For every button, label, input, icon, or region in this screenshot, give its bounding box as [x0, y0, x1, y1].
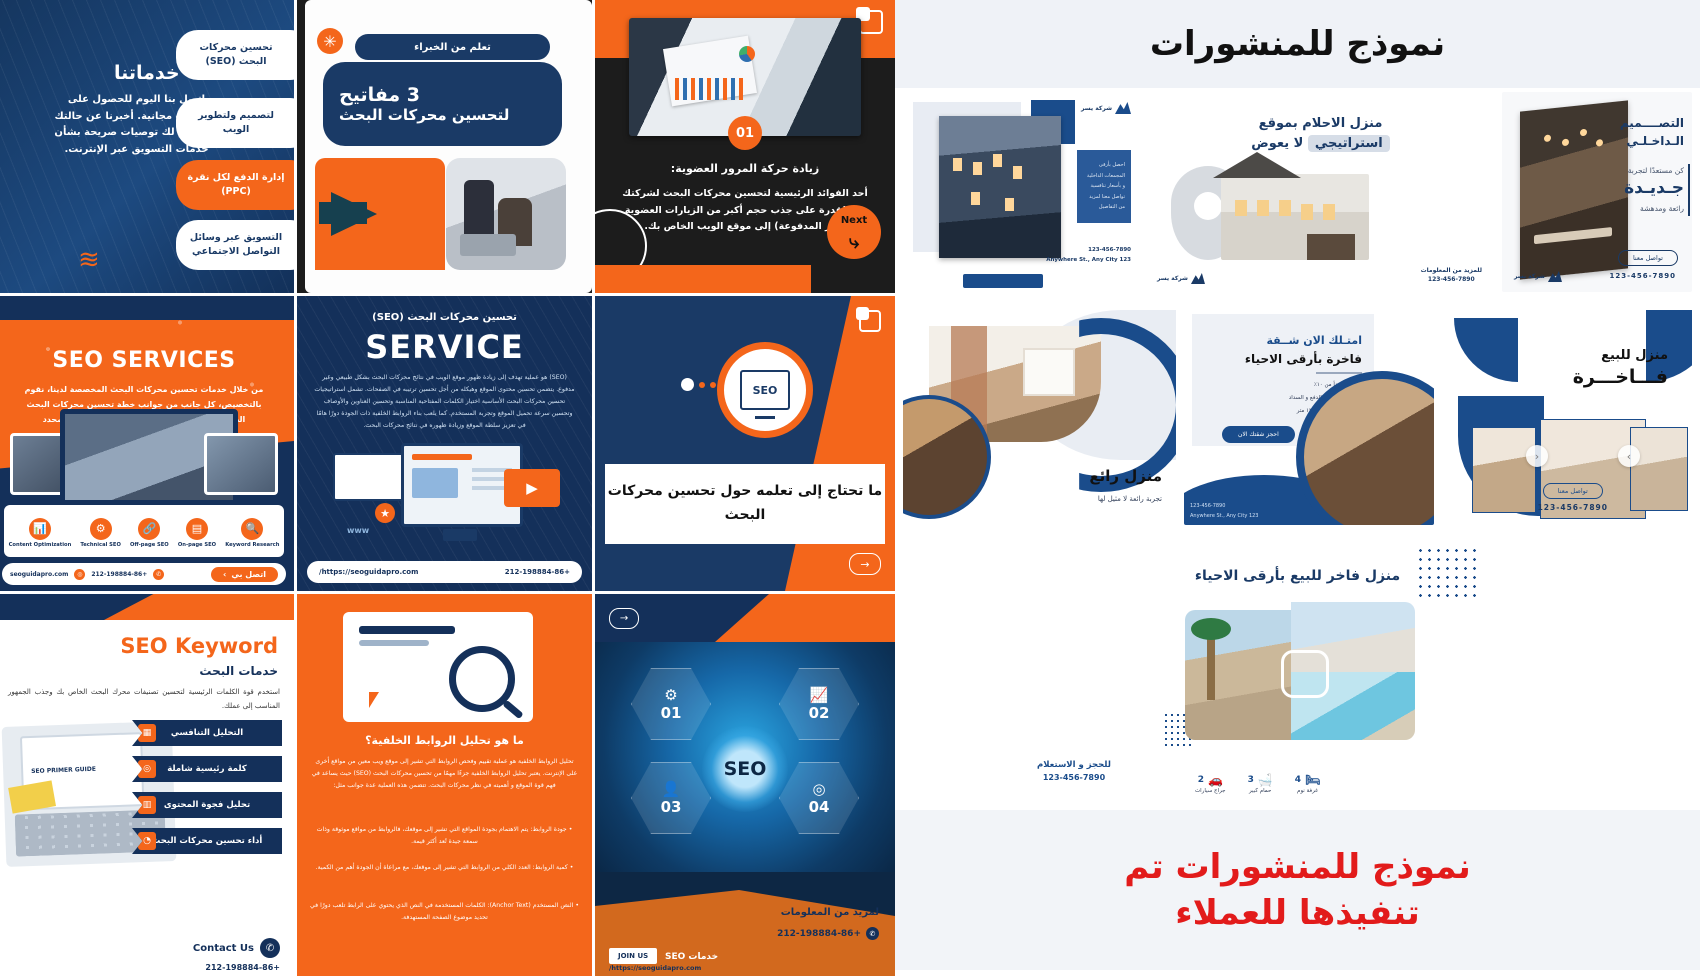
sparkle-icon: ✳	[317, 28, 343, 54]
copy-squares-icon	[859, 10, 883, 34]
cell7-phone: +212-198884-86	[777, 929, 861, 939]
step-badge: 01	[728, 116, 762, 150]
villa-address: 123 Anywhere St., Any City	[1046, 256, 1131, 266]
wonderful-phone: 123-456-7890	[1538, 503, 1608, 512]
icon-label: Keyword Research	[225, 542, 279, 549]
carousel-next-button[interactable]: ›	[1618, 445, 1640, 467]
dream-home-line1: منزل الاحلام بموقع	[1147, 116, 1494, 131]
growth-chart-icon: 📈	[810, 686, 829, 704]
icon-label: On-page SEO	[178, 542, 216, 549]
vertical-rule	[1688, 164, 1690, 216]
post-card-seo-learn[interactable]: SEO ما تحتاج إلى تعلمه حول تحسين محركات …	[595, 296, 895, 591]
keyword-subtitle: خدمات البحث	[199, 664, 278, 678]
apartment-phone: 123-456-7890	[1190, 502, 1258, 512]
service-chip-ppc[interactable]: إدارة الدفع لكل نقرة (PPC)	[176, 160, 294, 210]
dream-home-info: للمزيد من المعلومات 123-456-7890	[1421, 266, 1482, 284]
apartment-address: 123 Anywhere St., Any City	[1190, 512, 1258, 522]
listing-title: منزل فاخر للبيع بأرقى الاحياء	[895, 568, 1700, 584]
backlink-paragraph: تحليل الروابط الخلفية هو عملية تقييم وفح…	[309, 756, 580, 792]
copy-squares-icon	[859, 310, 881, 332]
item-label: كلمة رئيسية شاملة	[167, 764, 246, 774]
arrow-right-icon	[315, 158, 445, 270]
portfolio-screenshot: 01 زيادة حركة المرور العضوية: أحد الفوائ…	[0, 0, 1700, 970]
card-heading: زيادة حركة المرور العضوية:	[611, 162, 879, 175]
hero-title-line2: لتحسين محركات البحث	[339, 106, 509, 124]
car-icon: 🚗	[1208, 773, 1223, 787]
item-label: تحليل فجوة المحتوى	[164, 800, 250, 810]
join-us-button[interactable]: JOIN US	[609, 948, 657, 964]
item-label: التحليل التنافسي	[171, 728, 243, 738]
phone-row: ✆ +212-198884-86	[777, 927, 879, 940]
listing-gallery	[1185, 602, 1415, 740]
dream-home-line2: استراتيجي لا يعوض	[1147, 136, 1494, 151]
brand-logo: شركة يسر	[1157, 273, 1205, 284]
right-preview-panel: نموذج للمنشورات التصــــميم الـداخـلـي ك…	[895, 0, 1700, 970]
tech-hero-image: ⚙01 📈02 👤03 ◎04 SEO	[595, 642, 895, 872]
card-villa[interactable]: احصل بأرقى المجمعات الداخلية و بأسعار تن…	[903, 92, 1139, 292]
page-title: نموذج للمنشورات	[1150, 24, 1445, 64]
icon-technical-seo[interactable]: ⚙ Technical SEO	[80, 518, 120, 549]
item-label: أداء تحسين محركات البحث	[152, 836, 263, 846]
realestate-row-1: التصــــميم الـداخـلـي كن مستعدًا لتجربة…	[895, 92, 1700, 292]
listing-specs: 🛏4 غرفة نوم 🛁3 حمام كبير 🚗2 جراج سيارات	[1195, 773, 1320, 794]
contact-us-button[interactable]: ✆ Contact Us	[193, 938, 280, 958]
contact-meta: ✆ +212-198884-86 ◎ seoguidapro.com	[10, 569, 164, 580]
interior-line-3: رائعة ومدهشة	[1640, 204, 1684, 213]
wonderful-title: منزل رائع	[1089, 467, 1162, 485]
book-now-button[interactable]: احجز شقتك الان	[1222, 426, 1295, 443]
keyword-item-1[interactable]: ▦التحليل التنافسي	[132, 720, 282, 746]
cta-label: Contact Us	[193, 943, 254, 954]
cell9-phone: +212-198884-86	[205, 963, 280, 972]
post-card-three-keys[interactable]: ✳ تعلم من الخبراء 3 مفاتيح لتحسين محركات…	[297, 0, 592, 293]
monitor-illustration: ▶★ www	[317, 421, 572, 541]
footer-phone: +212-198884-86	[505, 568, 570, 576]
brand-label: شركة يسر	[1157, 275, 1188, 282]
info-label: للمزيد من المعلومات	[1421, 266, 1482, 275]
cell7-url[interactable]: https://seoguidapro.com/	[609, 964, 701, 972]
post-card-organic-traffic[interactable]: 01 زيادة حركة المرور العضوية: أحد الفوائ…	[595, 0, 895, 293]
service-chip-seo[interactable]: تحسين محركات البحث (SEO)	[176, 30, 294, 80]
gears-icon: ⚙	[664, 686, 677, 704]
gallery-photo-left	[1472, 427, 1536, 513]
wonderful-contact-block: تواصل معنا 123-456-7890	[1538, 478, 1608, 512]
spec-bathrooms: 🛁3 حمام كبير	[1248, 773, 1273, 794]
team-photo	[446, 158, 566, 270]
backlink-title: ما هو تحليل الروابط الخلفية؟	[307, 734, 582, 747]
icon-offpage-seo[interactable]: 🔗 Off-page SEO	[130, 518, 169, 549]
service-chip-webdev[interactable]: لتصميم ولتطوير الويب	[176, 98, 294, 148]
spec-caption: جراج سيارات	[1195, 788, 1226, 794]
keyword-item-4[interactable]: ◔أداء تحسين محركات البحث	[132, 828, 282, 854]
interior-photo	[1520, 100, 1628, 279]
arrow-right-icon[interactable]: →	[849, 553, 881, 575]
listing-cta-phone: 123-456-7890	[1037, 773, 1111, 782]
keyword-item-2[interactable]: ◎كلمة رئيسية شاملة	[132, 756, 282, 782]
mountain-icon	[1548, 271, 1562, 282]
luxury-line1: منزل للبيع	[1601, 348, 1668, 363]
listing-cta[interactable]: للحجز و الاستعلام 123-456-7890	[1037, 760, 1111, 782]
keyword-title: SEO Keyword	[120, 634, 278, 658]
contact-button[interactable]: تواصل معنا	[1618, 250, 1678, 266]
service-big-title: SERVICE	[297, 328, 592, 366]
wonderful-subtitle: تجربة رائعة لا مثيل لها	[1098, 495, 1162, 503]
villa-button[interactable]	[963, 274, 1043, 288]
apartment-contact: 123-456-7890 123 Anywhere St., Any City	[1190, 502, 1258, 521]
expert-pill: تعلم من الخبراء	[355, 34, 550, 60]
card-wonderful-home[interactable]: منزل رائع تجربة رائعة لا مثيل لها	[903, 300, 1176, 525]
keyword-paragraph: استخدم قوة الكلمات الرئيسية لتحسين تصنيف…	[8, 686, 280, 713]
wonderful-contact-button[interactable]: تواصل معنا	[1543, 483, 1603, 499]
cta-label: اتصل بي	[231, 570, 266, 579]
link-icon: 🔗	[138, 518, 160, 540]
villa-text-panel: احصل بأرقى المجمعات الداخلية و بأسعار تن…	[1077, 150, 1131, 223]
interior-title-line2: الـداخـلـي	[1620, 132, 1684, 150]
luxury-line2: فـــاخـــرة	[1573, 366, 1668, 388]
monitor-icon: SEO	[740, 370, 790, 410]
footer-line-2: تنفيذها للعملاء	[1175, 892, 1420, 935]
panel-footer: نموذج للمنشورات تم تنفيذها للعملاء	[895, 810, 1700, 970]
spec-caption: حمام كبير	[1249, 788, 1271, 794]
listing-photo-left	[1185, 610, 1291, 740]
spec-bedrooms: 🛏4 غرفة نوم	[1295, 773, 1321, 794]
next-button[interactable]: Next	[827, 205, 881, 259]
seo-services-title: SEO SERVICES	[0, 348, 294, 373]
brand-label: شركة يسر	[1081, 105, 1112, 112]
hexagon-option-1: ⚙01	[631, 668, 711, 740]
villa-photo	[939, 116, 1061, 258]
search-illustration	[343, 612, 533, 722]
spec-count: 3	[1248, 775, 1254, 785]
phone-icon: ✆	[260, 938, 280, 958]
gear-icon: ⚙	[90, 518, 112, 540]
bath-icon: 🛁	[1258, 773, 1273, 787]
villa-phone: 123-456-7890	[1046, 246, 1131, 256]
spec-caption: غرفة نوم	[1297, 788, 1318, 794]
backlink-bullet-1: • جودة الروابط: يتم الاهتمام بجودة الموا…	[309, 824, 580, 848]
post-card-seo-keyword[interactable]: SEO Keyword خدمات البحث استخدم قوة الكلم…	[0, 594, 294, 976]
phone-icon: ✆	[153, 569, 164, 580]
seo-core-label: SEO	[702, 726, 788, 812]
chart-icon: 📊	[29, 518, 51, 540]
dream-home-tail: لا يعوض	[1251, 136, 1303, 151]
phone-icon: ✆	[866, 927, 879, 940]
spec-garage: 🚗2 جراج سيارات	[1195, 773, 1226, 794]
hero-title-box: 3 مفاتيح لتحسين محركات البحث	[323, 62, 562, 146]
interior-line-2: جـديـدة	[1624, 178, 1684, 198]
hexagon-option-3: 👤03	[631, 762, 711, 834]
service-icon-row: 🔍 Keyword Research ▤ On-page SEO 🔗 Off-p…	[4, 505, 284, 557]
card-dream-home[interactable]: منزل الاحلام بموقع استراتيجي لا يعوض شرك…	[1147, 92, 1494, 292]
apartment-title-2: فاخرة بأرقى الاحياء	[1245, 352, 1362, 366]
info-phone: 123-456-7890	[1421, 275, 1482, 284]
panel-header: نموذج للمنشورات	[895, 0, 1700, 88]
mountain-icon	[1191, 273, 1205, 284]
bottom-orange-bar	[595, 265, 811, 293]
brand-logo: شركة يسر	[1081, 102, 1131, 114]
arrow-icon: ›	[223, 570, 226, 579]
backlink-bullet-2: • كمية الروابط: العدد الكلي من الروابط ا…	[309, 862, 580, 874]
title-plate: ما تحتاج إلى تعلمه حول تحسين محركات البح…	[605, 464, 885, 544]
hexagon-option-4: ◎04	[779, 762, 859, 834]
interior-title-line1: التصــــميم	[1620, 114, 1684, 132]
target-icon: ◎	[812, 780, 825, 798]
seo-learn-title: ما تحتاج إلى تعلمه حول تحسين محركات البح…	[605, 480, 885, 528]
card-villa-listing[interactable]: منزل فاخر للبيع بأرقى الاحياء 🛏4 غرفة نو…	[895, 532, 1700, 800]
hero-title-line1: 3 مفاتيح	[339, 84, 420, 106]
listing-cta-label: للحجز و الاستعلام	[1037, 760, 1111, 770]
footer-line-1: نموذج للمنشورات تم	[1124, 846, 1471, 889]
post-card-seo-hexagons[interactable]: → ⚙01 📈02 👤03 ◎04 SEO لمزيد من المعلومات…	[595, 594, 895, 976]
orange-wedge	[785, 296, 895, 591]
icon-content-optimization[interactable]: 📊 Content Optimization	[9, 518, 72, 549]
user-refresh-icon: 👤	[662, 780, 681, 798]
wave-logo-icon: ≋	[78, 245, 96, 275]
contact-footer: +212-198884-86 https://seoguidapro.com/	[307, 561, 582, 583]
left-portfolio-grid: 01 زيادة حركة المرور العضوية: أحد الفوائ…	[0, 0, 895, 970]
cta-row: اتصل بي› ✆ +212-198884-86 ◎ seoguidapro.…	[2, 563, 286, 585]
spec-count: 2	[1198, 775, 1204, 785]
interior-phone: 123-456-7890	[1609, 272, 1676, 280]
icon-onpage-seo[interactable]: ▤ On-page SEO	[178, 518, 216, 549]
dream-home-highlight: استراتيجي	[1308, 135, 1390, 152]
post-card-services[interactable]: خدماتنا اتصل بنا اليوم للحصول على استشار…	[0, 0, 294, 293]
apartment-title-1: امتـلك الان شــقة	[1267, 334, 1363, 347]
icon-label: Technical SEO	[80, 542, 120, 549]
bg-quarter-1	[1454, 318, 1518, 382]
side-photo-right	[204, 433, 278, 495]
call-me-button[interactable]: اتصل بي›	[211, 567, 278, 582]
post-card-seo-services[interactable]: SEO SERVICES من خلال خدمات تحسين محركات …	[0, 296, 294, 591]
backlink-bullet-3: • النص المستخدم (Anchor Text): الكلمات ا…	[309, 900, 580, 924]
bed-icon: 🛏	[1305, 773, 1320, 787]
more-info-label: لمزيد من المعلومات	[781, 907, 879, 918]
villa-contact: 123-456-7890 123 Anywhere St., Any City	[1046, 246, 1131, 266]
interior-title: التصــــميم الـداخـلـي	[1620, 114, 1684, 150]
brand-label: شركة يسر	[1514, 273, 1545, 280]
hexagon-option-2: 📈02	[779, 668, 859, 740]
cell6-phone: +212-198884-86	[91, 571, 147, 578]
icon-label: Off-page SEO	[130, 542, 169, 549]
laptop-screen-label: SEO PRIMER GUIDE	[31, 766, 96, 775]
gallery-notch	[1281, 650, 1329, 698]
divider	[1316, 372, 1362, 374]
search-icon: 🔍	[241, 518, 263, 540]
house-illustration	[1221, 174, 1369, 260]
page-icon: ▤	[186, 518, 208, 540]
seo-monitor-badge: SEO	[717, 342, 813, 438]
carousel-prev-button[interactable]: ‹	[1526, 445, 1548, 467]
globe-icon: ◎	[74, 569, 85, 580]
gallery-photo-right	[1630, 427, 1688, 511]
arrow-right-icon[interactable]: →	[609, 608, 639, 629]
magnifier-icon	[449, 646, 515, 712]
brand-logo: شركة يسر	[1514, 271, 1562, 282]
card-interior-design[interactable]: التصــــميم الـداخـلـي كن مستعدًا لتجربة…	[1502, 92, 1692, 292]
interior-line-1: كن مستعدًا لتجربة	[1628, 166, 1684, 175]
icon-keyword-research[interactable]: 🔍 Keyword Research	[225, 518, 279, 549]
mountain-icon	[1115, 102, 1131, 114]
seo-services-label: خدمات SEO	[665, 952, 718, 962]
icon-label: Content Optimization	[9, 542, 72, 549]
post-card-service-navy[interactable]: تحسين محركات البحث (SEO) SERVICE (SEO) ه…	[297, 296, 592, 591]
service-small-title: تحسين محركات البحث (SEO)	[297, 312, 592, 323]
service-chip-social[interactable]: التسويق عبر وسائل التواصل الاجتماعي	[176, 220, 294, 270]
keyword-item-3[interactable]: ▥تحليل فجوة المحتوى	[132, 792, 282, 818]
footer-url[interactable]: https://seoguidapro.com/	[319, 568, 418, 576]
card-apartment[interactable]: امتـلك الان شــقة فاخرة بأرقى الاحياء مق…	[1184, 300, 1434, 525]
spec-count: 4	[1295, 775, 1301, 785]
post-card-backlinks[interactable]: ما هو تحليل الروابط الخلفية؟ تحليل الروا…	[297, 594, 592, 976]
services-title: خدماتنا	[114, 62, 180, 84]
cell6-site[interactable]: seoguidapro.com	[10, 571, 68, 578]
